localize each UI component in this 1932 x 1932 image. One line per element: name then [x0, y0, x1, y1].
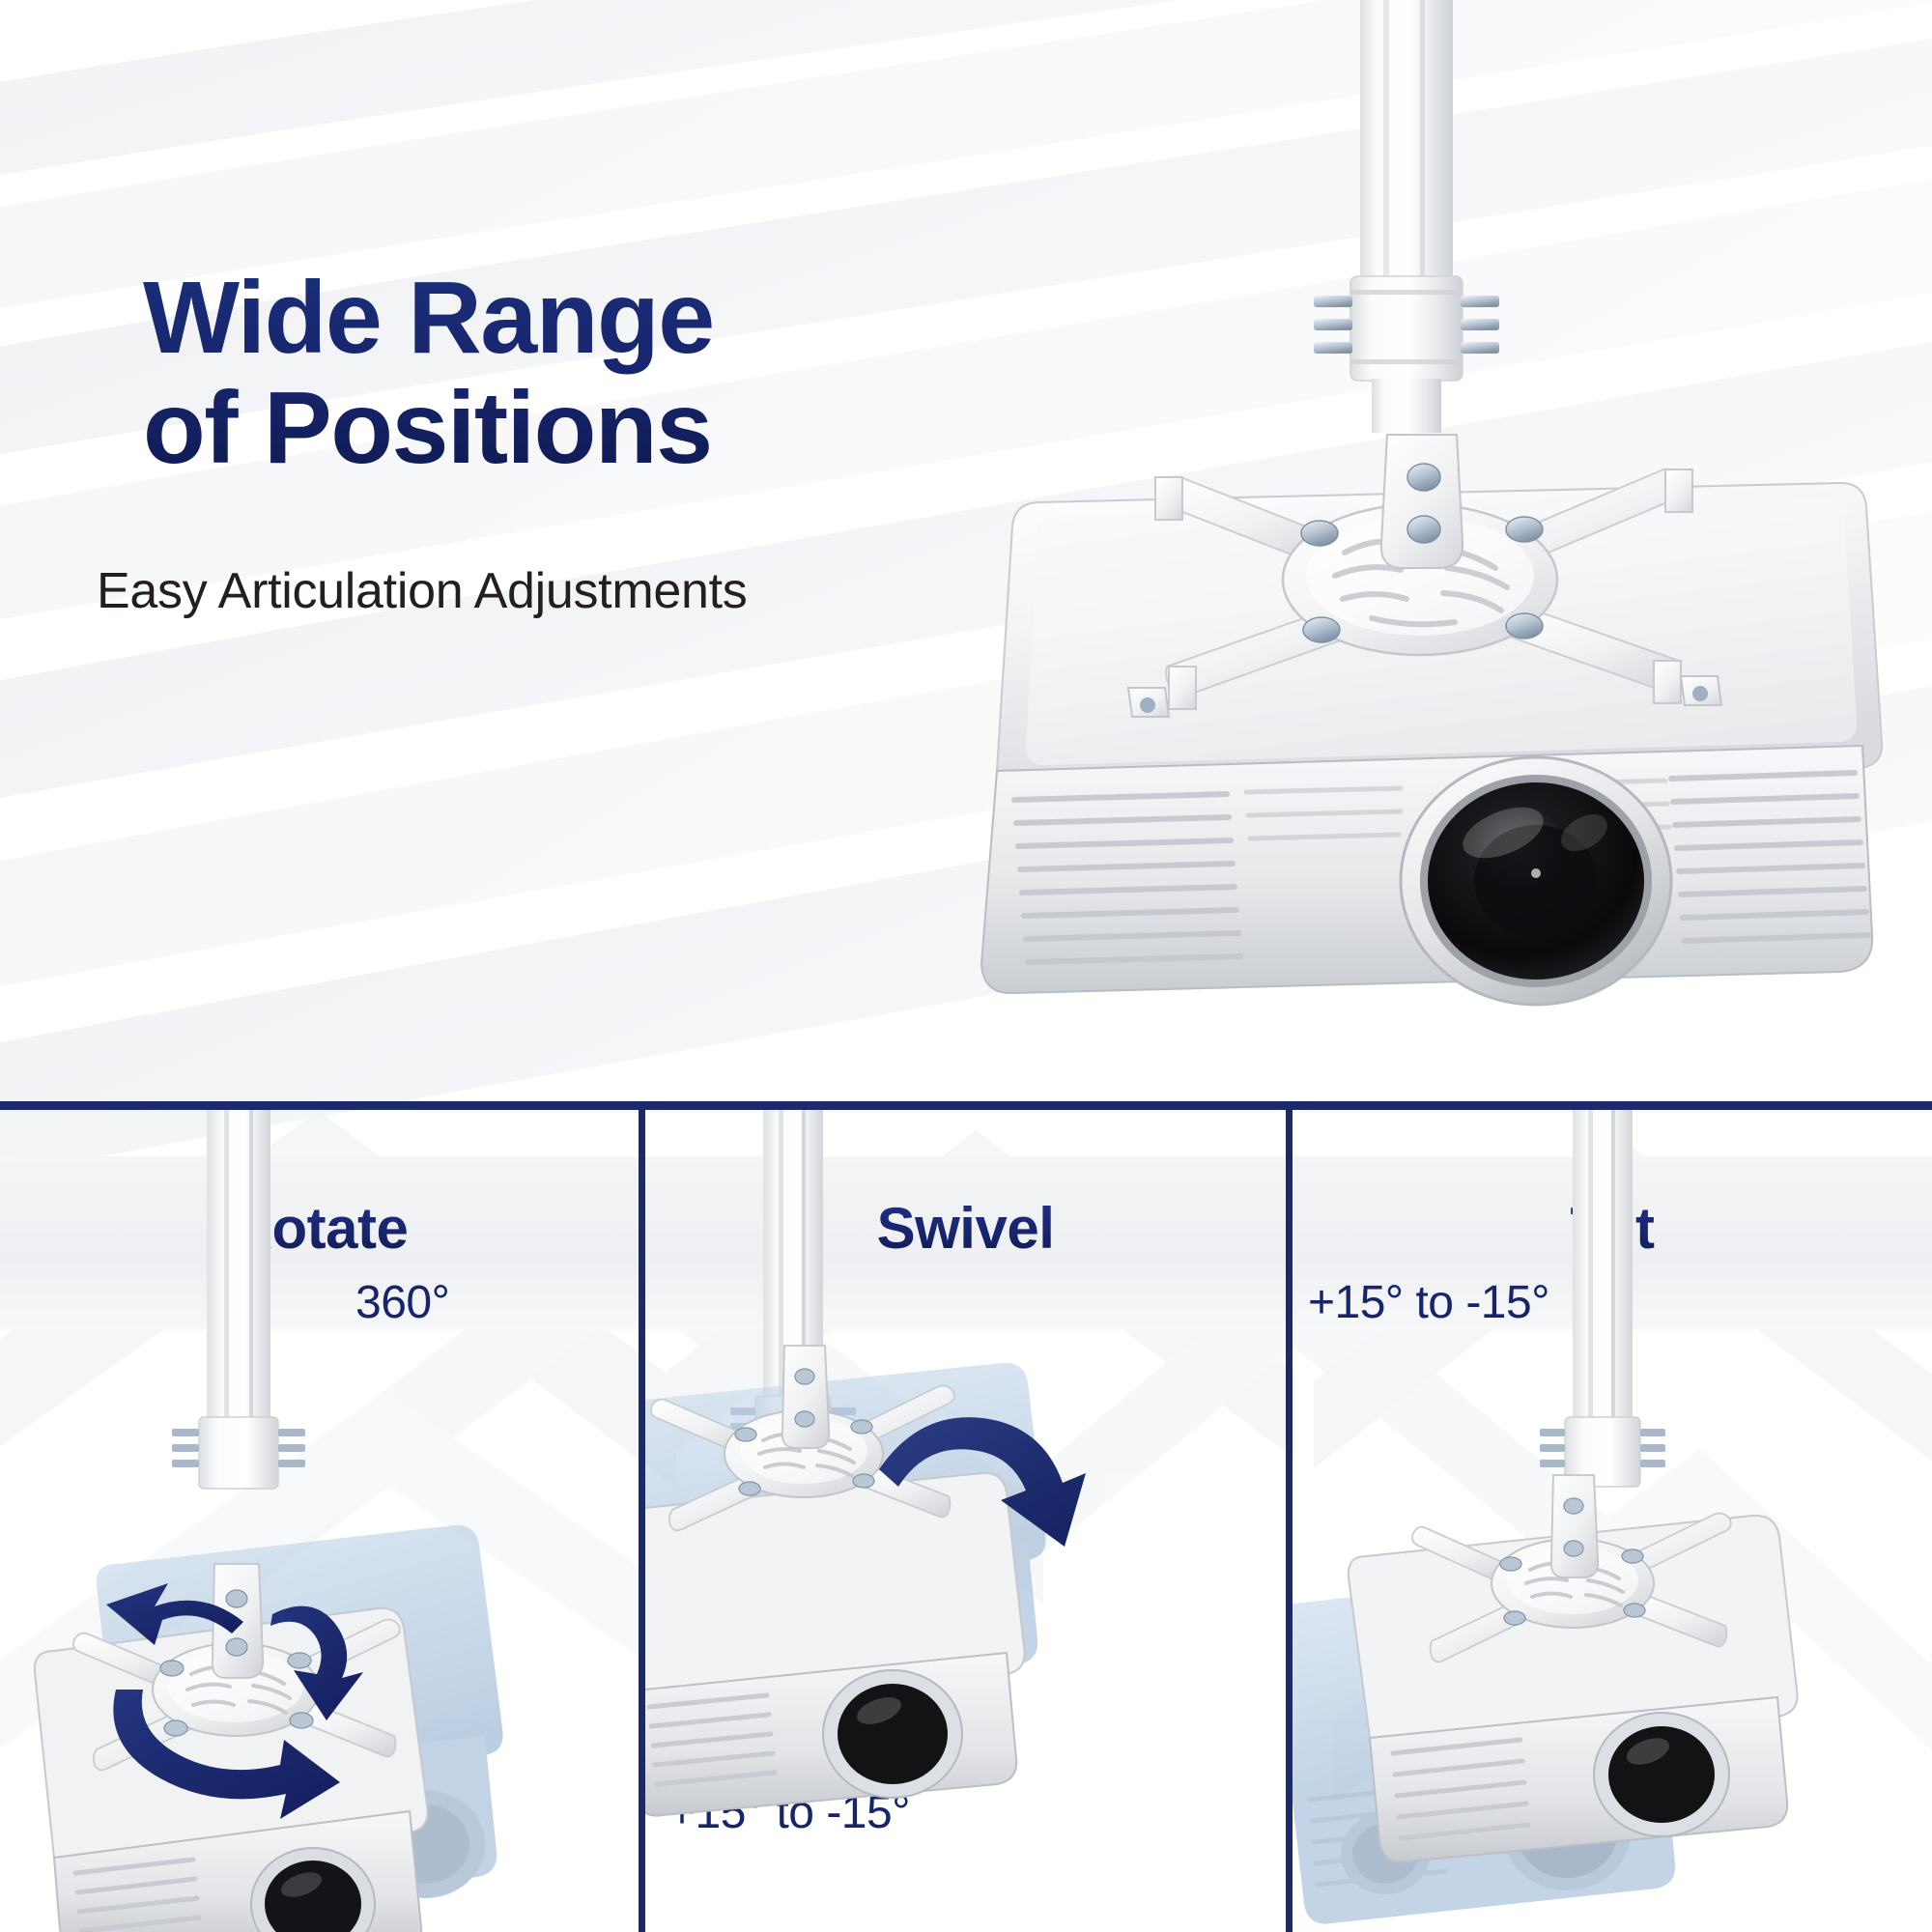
swivel-illustration: [645, 1110, 1286, 1932]
panel-divider-2: [1286, 1110, 1293, 1932]
panel-tilt: Tilt +15° to -15°: [1293, 1110, 1932, 1932]
adjustment-collar-graphic: [1314, 276, 1499, 433]
infographic-canvas: Wide Range of Positions Easy Articulatio…: [0, 0, 1932, 1932]
real-projector-swivel: [645, 1473, 1025, 1816]
ceiling-pole-graphic: [1360, 0, 1453, 280]
section-divider-horizontal: [0, 1101, 1932, 1110]
tilt-illustration: [1293, 1110, 1932, 1932]
panel-divider-1: [639, 1110, 645, 1932]
hero-section: Wide Range of Positions Easy Articulatio…: [0, 0, 1932, 1106]
rotate-illustration: [0, 1110, 639, 1932]
panel-rotate: Rotate 360°: [0, 1110, 639, 1932]
projector-lens-graphic: [1401, 757, 1671, 1005]
panel-swivel: Swivel +15° to -15°: [645, 1110, 1286, 1932]
hero-projector-illustration: [0, 0, 1932, 1106]
